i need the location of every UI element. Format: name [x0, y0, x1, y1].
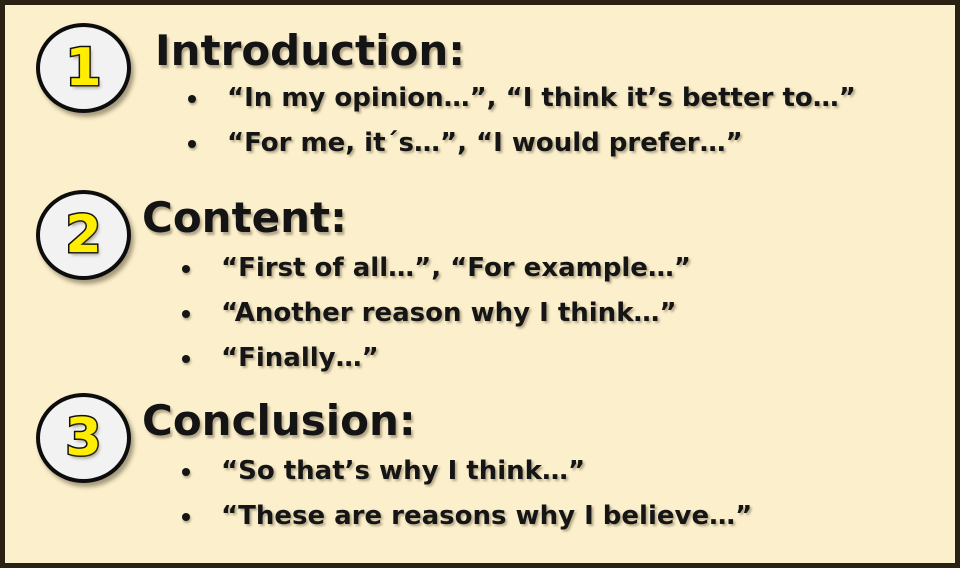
section-heading: Conclusion: [142, 399, 416, 443]
bullet-dot-icon [188, 140, 196, 148]
bullet-text: “These are reasons why I believe…” [221, 501, 752, 531]
bullet-text: “So that’s why I think…” [221, 456, 585, 486]
list-item: “First of all…”, “For example…” [180, 250, 691, 288]
step-badge-3: 3 [36, 393, 131, 483]
bullet-dot-icon [182, 513, 190, 521]
step-number: 3 [36, 393, 131, 483]
step-badge-1: 1 [36, 23, 131, 113]
list-item: “In my opinion…”, “I think it’s better t… [186, 80, 856, 118]
step-number: 2 [36, 190, 131, 280]
bullet-list: “First of all…”, “For example…” “Another… [180, 250, 691, 385]
list-item: “Finally…” [180, 340, 691, 378]
step-badge-2: 2 [36, 190, 131, 280]
section-heading: Introduction: [155, 29, 465, 73]
bullet-dot-icon [182, 468, 190, 476]
list-item: “For me, it´s…”, “I would prefer…” [186, 125, 856, 163]
list-item: “Another reason why I think…” [180, 295, 691, 333]
bullet-text: “For me, it´s…”, “I would prefer…” [227, 128, 743, 158]
bullet-dot-icon [188, 95, 196, 103]
list-item: “So that’s why I think…” [180, 453, 752, 491]
bullet-text: “Another reason why I think…” [221, 298, 677, 328]
step-number: 1 [36, 23, 131, 113]
bullet-dot-icon [182, 310, 190, 318]
bullet-list: “In my opinion…”, “I think it’s better t… [186, 80, 856, 170]
bullet-dot-icon [182, 355, 190, 363]
section-heading: Content: [142, 196, 347, 240]
slide-canvas: 1 Introduction: “In my opinion…”, “I thi… [5, 5, 955, 563]
bullet-text: “In my opinion…”, “I think it’s better t… [227, 83, 856, 113]
bullet-dot-icon [182, 265, 190, 273]
slide-frame: 1 Introduction: “In my opinion…”, “I thi… [0, 0, 960, 568]
bullet-list: “So that’s why I think…” “These are reas… [180, 453, 752, 543]
bullet-text: “Finally…” [221, 343, 379, 373]
bullet-text: “First of all…”, “For example…” [221, 253, 691, 283]
list-item: “These are reasons why I believe…” [180, 498, 752, 536]
